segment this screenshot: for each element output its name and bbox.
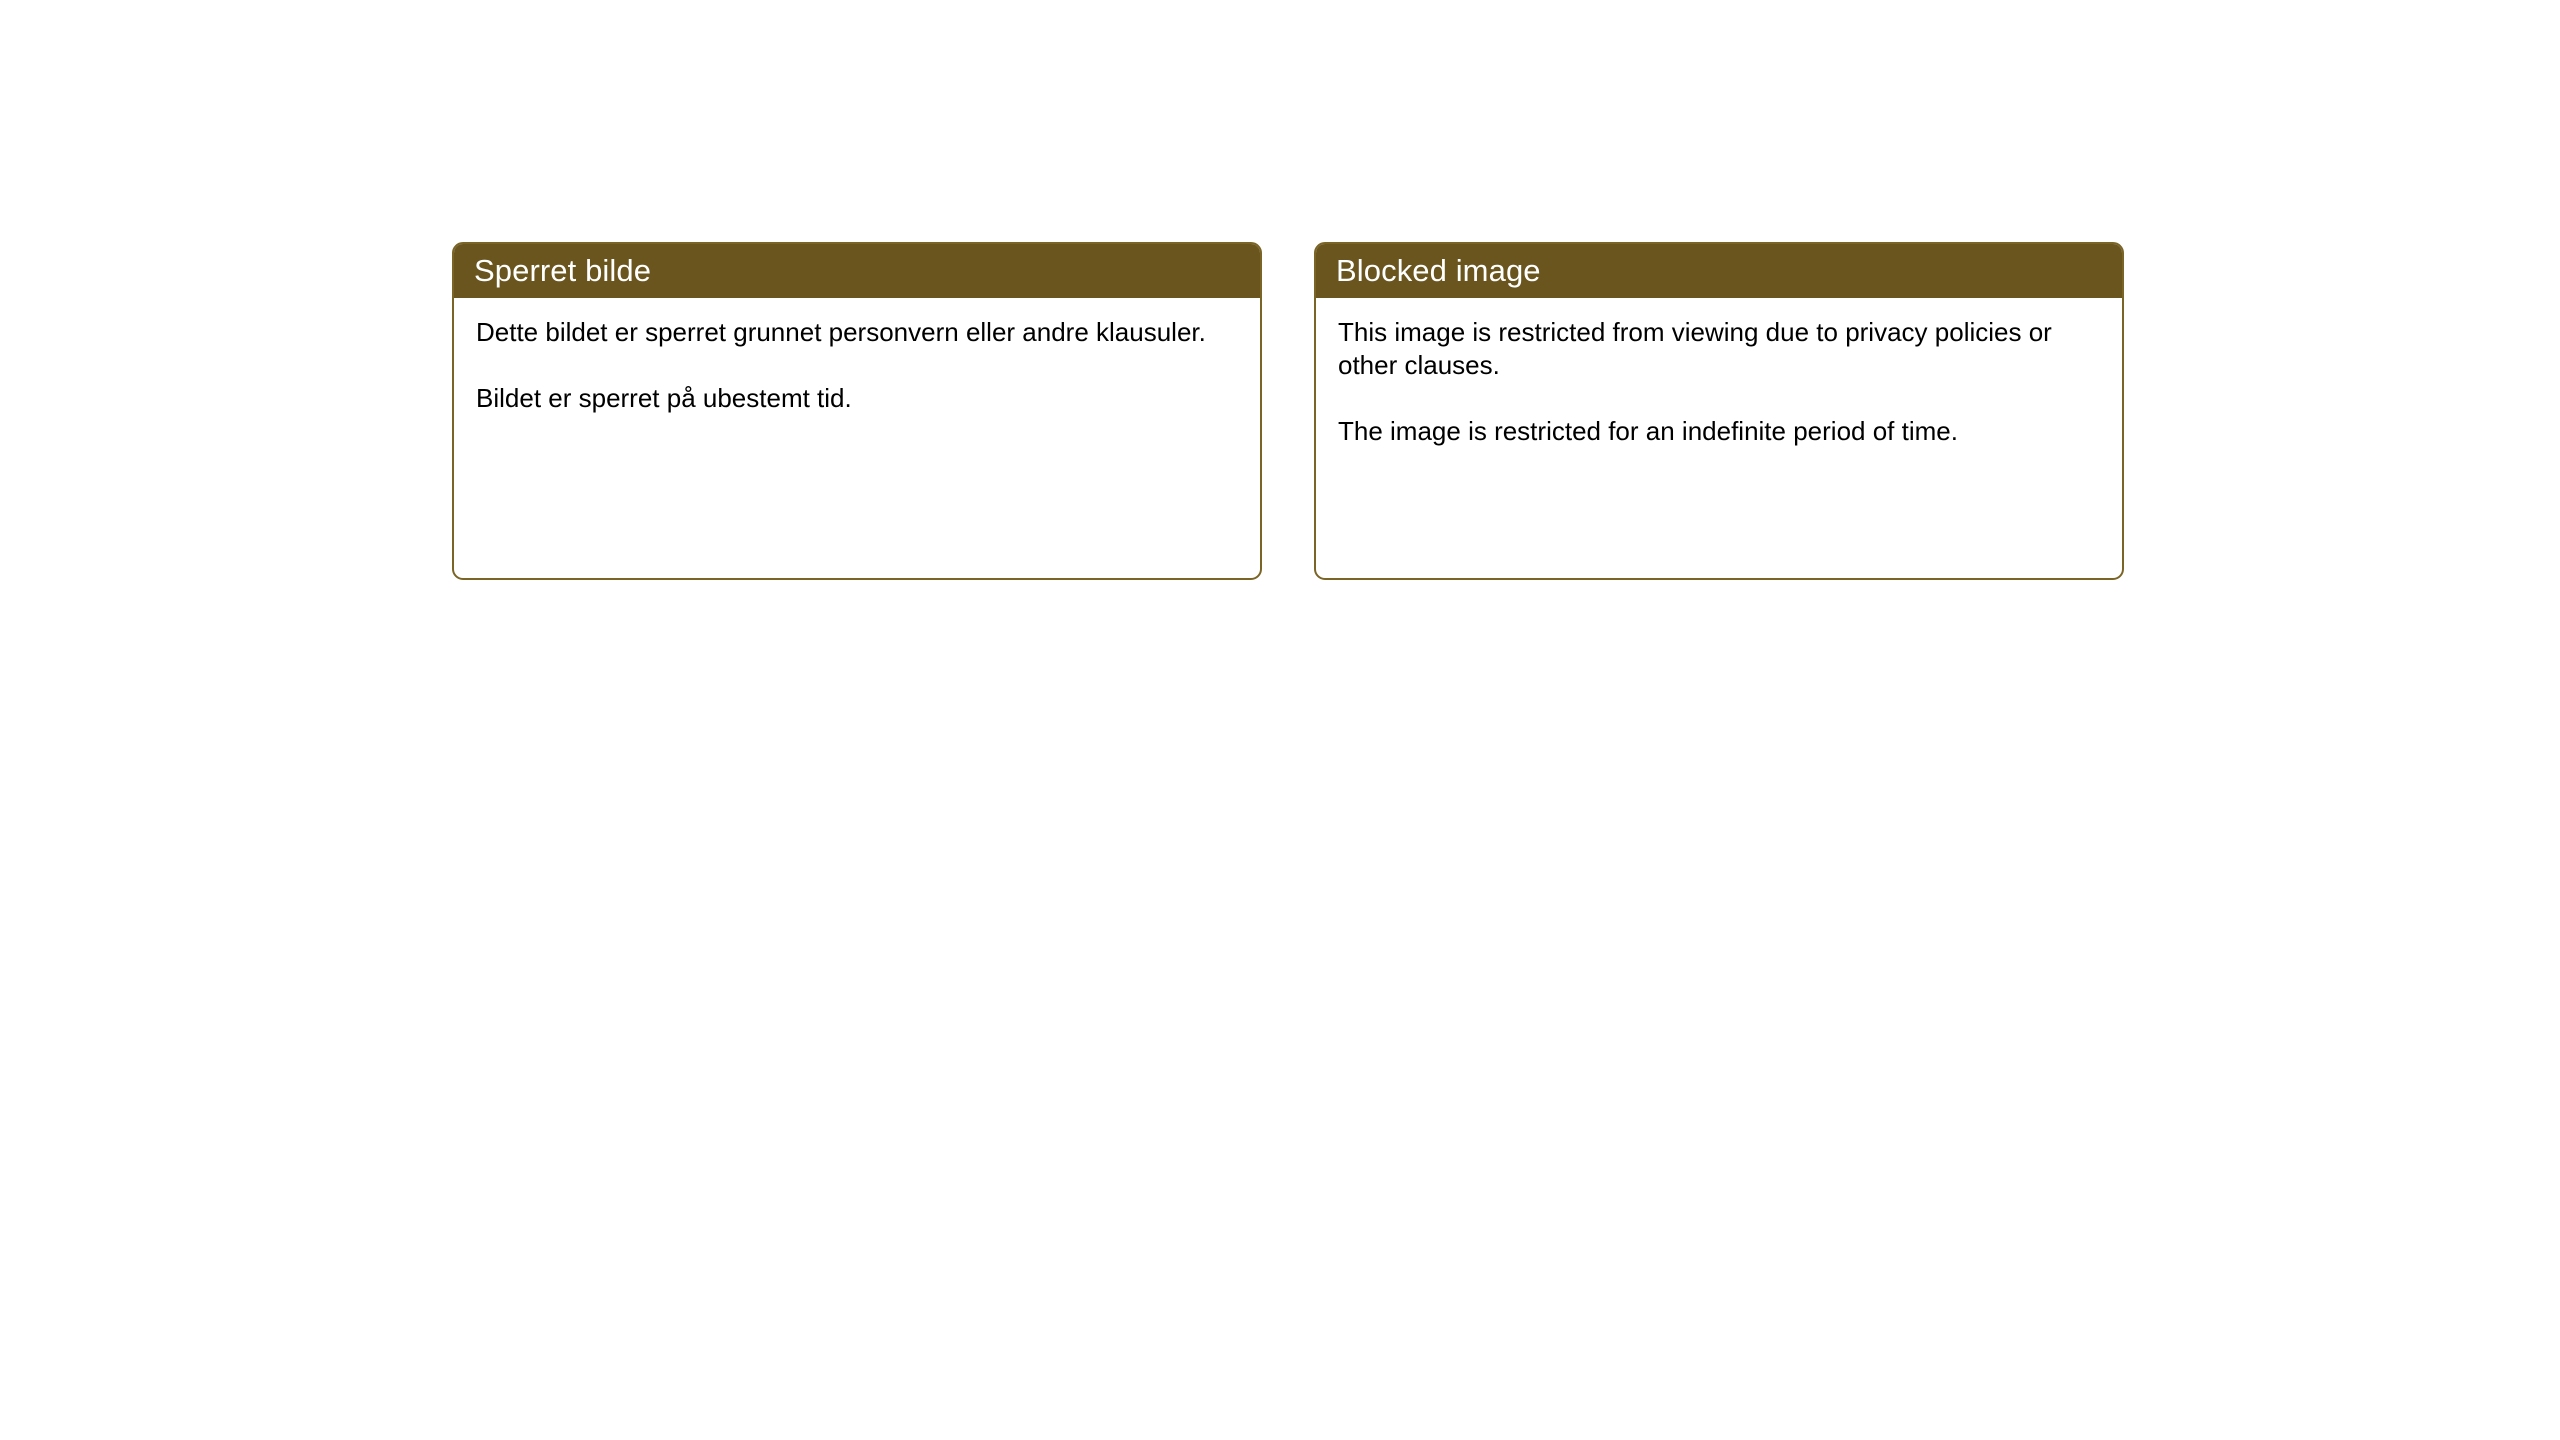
blocked-image-notice-area: Sperret bilde Dette bildet er sperret gr… [452, 242, 2124, 580]
card-title-english: Blocked image [1336, 255, 1541, 286]
card-paragraph-primary-norwegian: Dette bildet er sperret grunnet personve… [476, 316, 1236, 349]
card-body-english: This image is restricted from viewing du… [1316, 298, 2122, 578]
card-header-english: Blocked image [1314, 242, 2124, 298]
card-paragraph-secondary-norwegian: Bildet er sperret på ubestemt tid. [476, 382, 1236, 415]
card-paragraph-primary-english: This image is restricted from viewing du… [1338, 316, 2098, 382]
card-title-norwegian: Sperret bilde [474, 255, 651, 286]
card-body-norwegian: Dette bildet er sperret grunnet personve… [454, 298, 1260, 578]
card-header-norwegian: Sperret bilde [452, 242, 1262, 298]
card-paragraph-secondary-english: The image is restricted for an indefinit… [1338, 415, 2098, 448]
blocked-image-card-norwegian: Sperret bilde Dette bildet er sperret gr… [452, 242, 1262, 580]
blocked-image-card-english: Blocked image This image is restricted f… [1314, 242, 2124, 580]
